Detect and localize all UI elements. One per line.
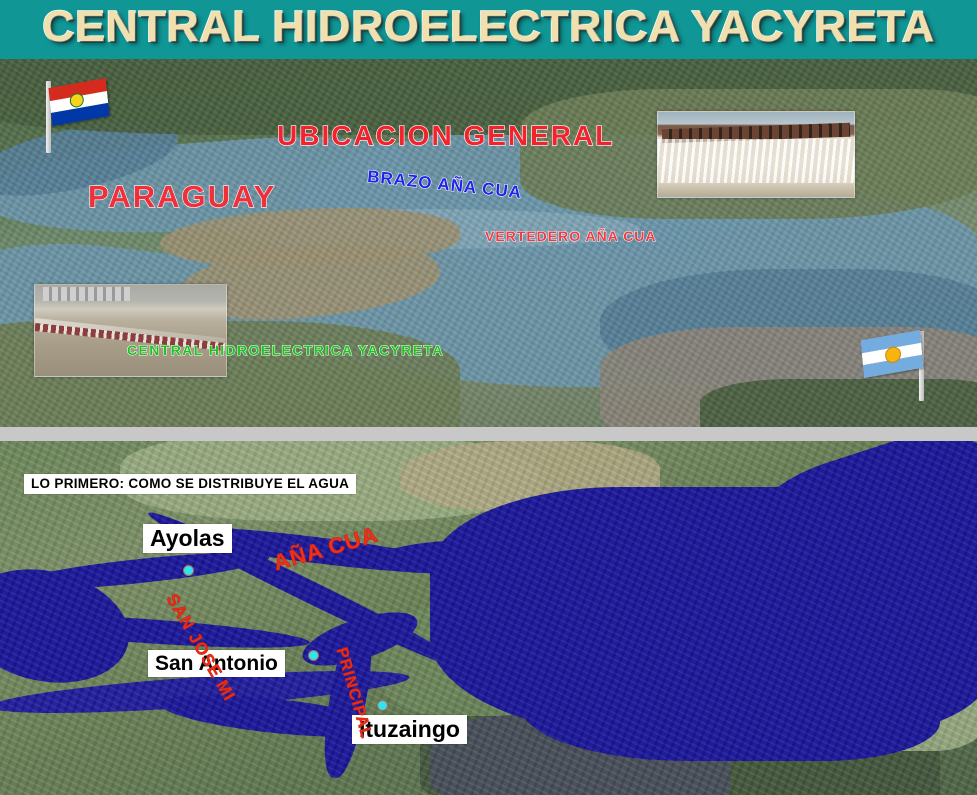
title-bar: CENTRAL HIDROELECTRICA YACYRETA <box>0 0 977 59</box>
feature-label-vertedero-ana-cua: VERTEDERO AÑA CUA <box>485 229 657 243</box>
vertedero-ana-cua-photo <box>657 111 855 198</box>
feature-label-central-hidroelectrica-yacyreta: CENTRAL HIDROELECTRICA YACYRETA <box>127 343 444 357</box>
page-title: CENTRAL HIDROELECTRICA YACYRETA <box>0 2 977 52</box>
spillway-water-spray <box>658 139 854 183</box>
upper-map-heading: UBICACION GENERAL <box>277 122 614 150</box>
section-divider <box>0 427 977 441</box>
water-embalse-southlobe <box>520 621 940 761</box>
upper-satellite-map: UBICACION GENERAL PARAGUAY ARGENTINA BRA… <box>0 59 977 427</box>
city-label-ayolas: Ayolas <box>143 524 232 553</box>
country-label-paraguay: PARAGUAY <box>88 181 276 212</box>
intro-caption: LO PRIMERO: COMO SE DISTRIBUYE EL AGUA <box>24 474 356 494</box>
central-yacyreta-photo <box>34 284 227 377</box>
terrain-land-southeast-corner <box>700 379 977 427</box>
city-dot-san-antonio <box>308 650 319 661</box>
powerhouse-buildings <box>43 287 131 302</box>
city-dot-ituzaingo <box>377 700 388 711</box>
lower-satellite-map: LO PRIMERO: COMO SE DISTRIBUYE EL AGUA A… <box>0 441 977 795</box>
city-dot-ayolas <box>183 565 194 576</box>
slide-root: CENTRAL HIDROELECTRICA YACYRETA UBICACIO… <box>0 0 977 795</box>
